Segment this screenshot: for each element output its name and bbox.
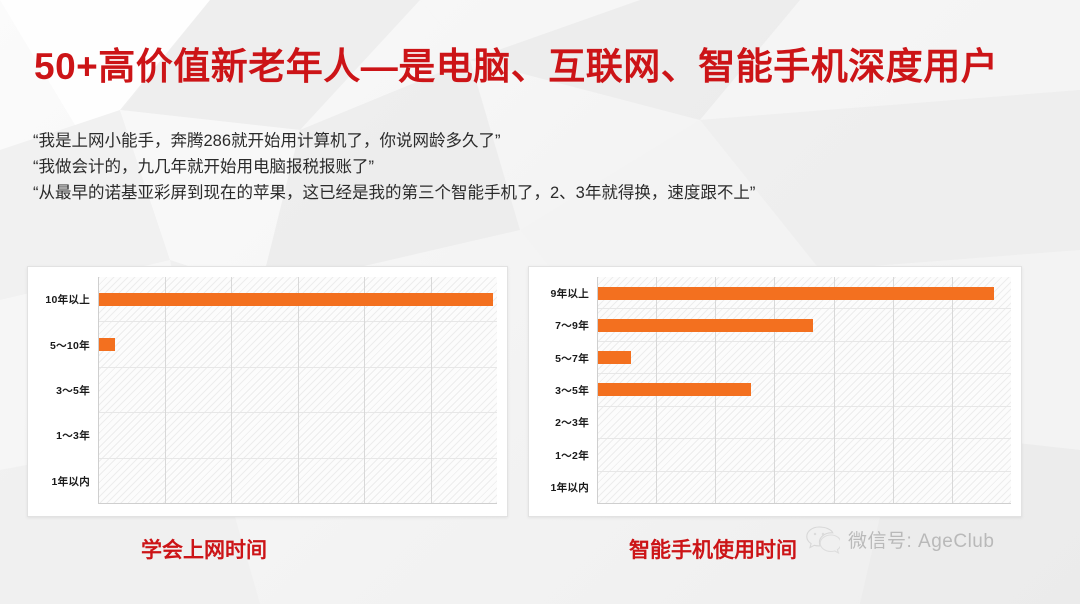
bar-row <box>598 342 1011 374</box>
bar-row <box>598 309 1011 341</box>
bar-row <box>99 367 497 412</box>
bar-series-left <box>99 277 497 503</box>
cat-label: 1年以内 <box>535 472 597 504</box>
bar-row <box>99 413 497 458</box>
bar <box>99 338 115 351</box>
bar-row <box>598 374 1011 406</box>
chart-caption-right: 智能手机使用时间 <box>629 534 797 564</box>
cat-label: 10年以上 <box>34 277 98 322</box>
bar <box>598 351 631 364</box>
bar-row <box>598 406 1011 438</box>
cat-label: 1～3年 <box>34 413 98 458</box>
wechat-logo <box>806 524 840 554</box>
cat-label: 9年以上 <box>535 277 597 309</box>
category-axis-left: 10年以上 5～10年 3～5年 1～3年 1年以内 <box>34 277 98 504</box>
watermark: 微信号: AgeClub <box>806 524 994 554</box>
bar-row <box>598 438 1011 470</box>
plot-area-left <box>98 277 497 504</box>
cat-label: 5～10年 <box>34 322 98 367</box>
bar <box>598 287 994 300</box>
cat-label: 5～7年 <box>535 342 597 374</box>
bar-row <box>598 277 1011 309</box>
quote-block: “我是上网小能手，奔腾286就开始用计算机了，你说网龄多久了” “我做会计的，九… <box>33 128 1023 206</box>
chart-card-internet-years: 10年以上 5～10年 3～5年 1～3年 1年以内 <box>27 266 508 517</box>
bar-series-right <box>598 277 1011 503</box>
cat-label: 1年以内 <box>34 459 98 504</box>
quote-line-1: “我是上网小能手，奔腾286就开始用计算机了，你说网龄多久了” <box>33 128 1023 154</box>
chart-caption-left: 学会上网时间 <box>141 534 267 564</box>
cat-label: 7～9年 <box>535 309 597 341</box>
cat-label: 3～5年 <box>535 374 597 406</box>
quote-line-3: “从最早的诺基亚彩屏到现在的苹果，这已经是我的第三个智能手机了，2、3年就得换，… <box>33 180 1023 206</box>
bar-row <box>99 322 497 367</box>
bar <box>99 293 493 306</box>
slide-canvas: 50+高价值新老年人—是电脑、互联网、智能手机深度用户 “我是上网小能手，奔腾2… <box>0 0 1080 604</box>
cat-label: 3～5年 <box>34 368 98 413</box>
bar-row <box>598 471 1011 503</box>
page-title: 50+高价值新老年人—是电脑、互联网、智能手机深度用户 <box>34 46 1054 89</box>
cat-label: 1～2年 <box>535 439 597 471</box>
quote-line-2: “我做会计的，九几年就开始用电脑报税报账了” <box>33 154 1023 180</box>
bar-row <box>99 458 497 503</box>
watermark-text: 微信号: AgeClub <box>848 526 994 553</box>
chart-card-smartphone-years: 9年以上 7～9年 5～7年 3～5年 2～3年 1～2年 1年以内 <box>528 266 1022 517</box>
bar-row <box>99 277 497 322</box>
bar <box>598 319 813 332</box>
cat-label: 2～3年 <box>535 407 597 439</box>
bar <box>598 383 751 396</box>
category-axis-right: 9年以上 7～9年 5～7年 3～5年 2～3年 1～2年 1年以内 <box>535 277 597 504</box>
plot-area-right <box>597 277 1011 504</box>
